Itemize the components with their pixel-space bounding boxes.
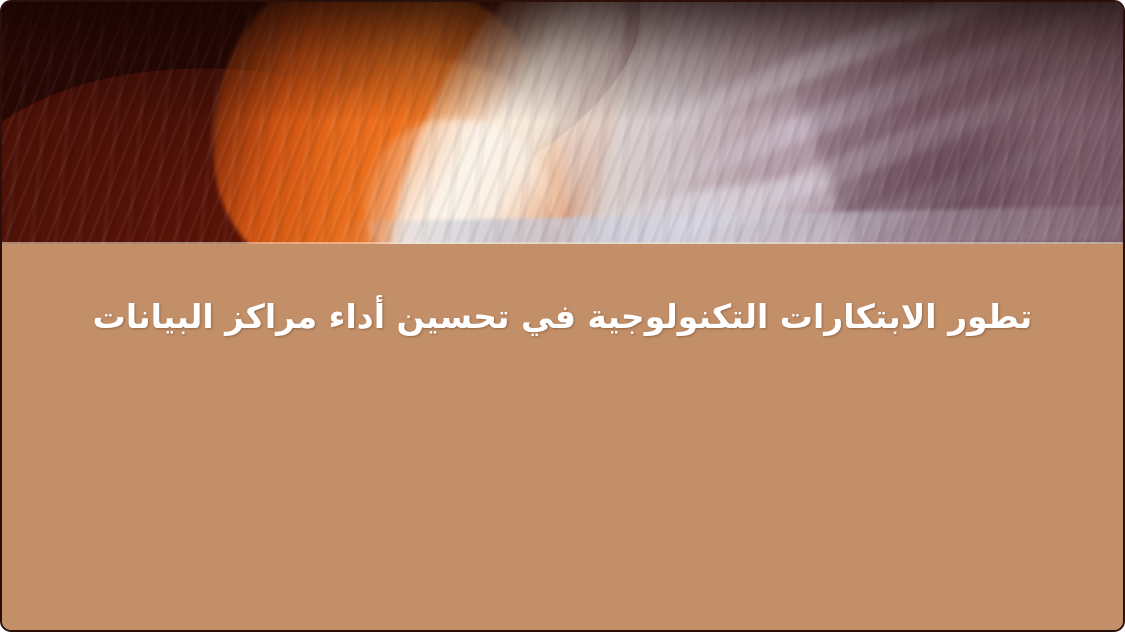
- slide-title: تطور الابتكارات التكنولوجية في تحسين أدا…: [64, 290, 1061, 343]
- photo-top-vignette: [2, 2, 1123, 122]
- presentation-slide: تطور الابتكارات التكنولوجية في تحسين أدا…: [0, 0, 1125, 632]
- slide-body: تطور الابتكارات التكنولوجية في تحسين أدا…: [2, 244, 1123, 630]
- title-block: تطور الابتكارات التكنولوجية في تحسين أدا…: [64, 290, 1061, 343]
- banner-photo: [2, 2, 1123, 244]
